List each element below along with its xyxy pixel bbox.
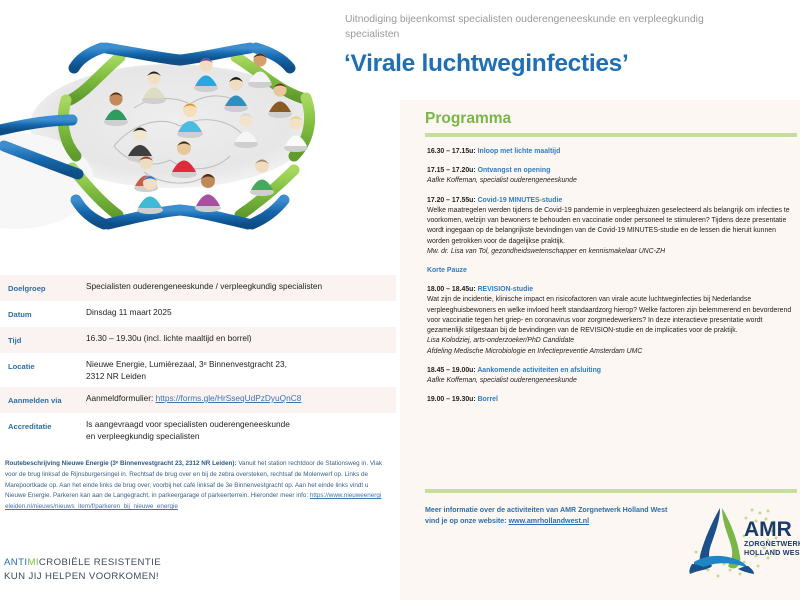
item-presenter: Mw. dr. Lisa van Tol, gezondheidswetensc… [427, 247, 795, 257]
network-illustration [0, 0, 400, 262]
programme-item: 17.20 – 17.55u: Covid-19 MINUTES-studie … [427, 196, 795, 257]
route-title: Routebeschrijving Nieuwe Energie (3ᵉ Bin… [5, 460, 237, 467]
footer-info: Meer informatie over de activiteiten van… [425, 505, 690, 527]
left-column: Doelgroep Specialisten ouderengeneeskund… [0, 0, 400, 600]
amr-wordmark: AMR ZORGNETWERK HOLLAND WEST [744, 520, 800, 558]
invitation-flyer: Doelgroep Specialisten ouderengeneeskund… [0, 0, 800, 600]
amr-logo: AMR ZORGNETWERK HOLLAND WEST [678, 500, 800, 590]
amr-wordmark-sub2: HOLLAND WEST [744, 549, 800, 558]
info-value-locatie: Nieuwe Energie, Lumièrezaal, 3ᵉ Binnenve… [86, 358, 396, 382]
footer-prefix: vind je op onze website: [425, 517, 509, 525]
footer-line-2: vind je op onze website: www.amrhollandw… [425, 516, 690, 527]
right-column: Uitnodiging bijeenkomst specialisten oud… [400, 0, 800, 600]
footer-rule [425, 489, 797, 493]
footer-line-1: Meer informatie over de activiteiten van… [425, 505, 690, 516]
network-illustration-svg [0, 0, 400, 262]
amr-slogan: ANTIMICROBIËLE RESISTENTIE KUN JIJ HELPE… [4, 556, 161, 584]
aanmelden-text: Aanmeldformulier: [86, 393, 156, 403]
info-value-aanmelden: Aanmeldformulier: https://forms.gle/HrSs… [86, 392, 396, 404]
item-time: 19.00 – 19.30u: [427, 396, 478, 403]
item-presenter: Aafke Koffeman, specialist ouderengenees… [427, 376, 795, 386]
item-presenter: Lisa Kolodziej, arts-onderzoeker/PhD Can… [427, 336, 795, 346]
item-title: Aankomende activiteiten en afsluiting [477, 367, 601, 374]
programme-item: 18.45 – 19.00u: Aankomende activiteiten … [427, 366, 795, 386]
item-time: 17.15 – 17.20u: [427, 167, 478, 174]
table-row: Datum Dinsdag 11 maart 2025 [0, 301, 396, 327]
programme-item: 19.00 – 19.30u: Borrel [427, 395, 795, 405]
info-label-doelgroep: Doelgroep [0, 280, 86, 296]
info-value-doelgroep: Specialisten ouderengeneeskunde / verple… [86, 280, 396, 292]
page-title: ‘Virale luchtweginfecties’ [344, 50, 629, 78]
info-label-aanmelden: Aanmelden via [0, 392, 86, 408]
item-description: Wat zijn de incidentie, klinische impact… [427, 295, 795, 336]
info-label-accreditatie: Accreditatie [0, 418, 86, 434]
item-title: Covid-19 MINUTES-studie [478, 197, 563, 204]
item-time: 17.20 – 17.55u: [427, 197, 478, 204]
programme-body: 16.30 – 17.15u: Inloop met lichte maalti… [427, 147, 795, 414]
slogan-anti: ANTI [4, 557, 27, 568]
programme-item: 17.15 – 17.20u: Ontvangst en opening Aaf… [427, 166, 795, 186]
item-time: 18.00 – 18.45u: [427, 286, 478, 293]
programme-item: 16.30 – 17.15u: Inloop met lichte maalti… [427, 147, 795, 157]
slogan-line-2: KUN JIJ HELPEN VOORKOMEN! [4, 570, 161, 584]
table-row: Tijd 16.30 – 19.30u (incl. lichte maalti… [0, 327, 396, 353]
table-row: Aanmelden via Aanmeldformulier: https://… [0, 387, 396, 413]
amr-wordmark-main: AMR [744, 520, 800, 540]
item-title: Borrel [478, 396, 498, 403]
info-value-tijd: 16.30 – 19.30u (incl. lichte maaltijd en… [86, 332, 396, 344]
registration-link[interactable]: https://forms.gle/HrSseqUdPzDyuQnC8 [156, 393, 302, 403]
table-row: Doelgroep Specialisten ouderengeneeskund… [0, 275, 396, 301]
slogan-mi: MI [27, 557, 38, 568]
invitation-kicker: Uitnodiging bijeenkomst specialisten oud… [345, 12, 725, 43]
programme-item: 18.00 – 18.45u: REVISION-studie Wat zijn… [427, 285, 795, 357]
info-value-accreditatie: Is aangevraagd voor specialisten ouderen… [86, 418, 396, 442]
item-title: REVISION-studie [478, 286, 534, 293]
website-link[interactable]: www.amrhollandwest.nl [509, 517, 590, 525]
item-time: 16.30 – 17.15u: [427, 148, 478, 155]
programme-rule [425, 133, 797, 137]
item-presenter-affiliation: Afdeling Medische Microbiologie en Infec… [427, 347, 795, 357]
info-value-datum: Dinsdag 11 maart 2025 [86, 306, 396, 318]
info-label-datum: Datum [0, 306, 86, 322]
item-presenter: Aafke Koffeman, specialist ouderengenees… [427, 176, 795, 186]
item-time: 18.45 – 19.00u: [427, 367, 477, 374]
event-info-table: Doelgroep Specialisten ouderengeneeskund… [0, 275, 396, 447]
programme-pause: Korte Pauze [427, 266, 795, 276]
item-title: Inloop met lichte maaltijd [478, 148, 561, 155]
slogan-rest: CROBIËLE RESISTENTIE [39, 557, 161, 568]
info-label-tijd: Tijd [0, 332, 86, 348]
route-description: Routebeschrijving Nieuwe Energie (3ᵉ Bin… [5, 459, 383, 513]
programme-heading: Programma [425, 110, 511, 128]
item-description: Welke maatregelen werden tijdens de Covi… [427, 206, 795, 247]
table-row: Locatie Nieuwe Energie, Lumièrezaal, 3ᵉ … [0, 353, 396, 387]
item-title: Ontvangst en opening [478, 167, 551, 174]
info-label-locatie: Locatie [0, 358, 86, 374]
table-row: Accreditatie Is aangevraagd voor special… [0, 413, 396, 447]
slogan-line-1: ANTIMICROBIËLE RESISTENTIE [4, 556, 161, 570]
